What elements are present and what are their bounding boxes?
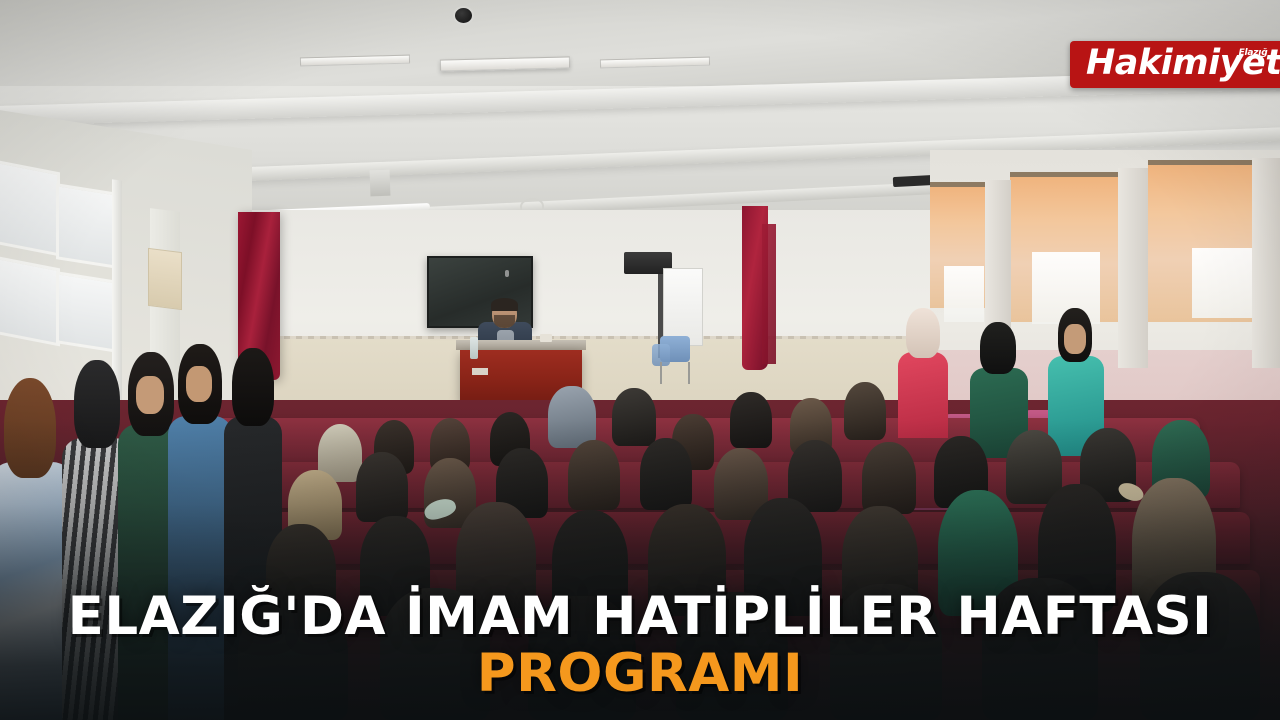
headline-line-2: PROGRAMI (0, 646, 1280, 702)
headline-line-1: ELAZIĞ'DA İMAM HATİPLİLER HAFTASI (0, 589, 1280, 645)
headline-block: ELAZIĞ'DA İMAM HATİPLİLER HAFTASI PROGRA… (0, 589, 1280, 702)
publication-logo[interactable]: Hakimiyet Elazığ (1070, 41, 1280, 88)
logo-city-superscript: Elazığ (1239, 48, 1268, 58)
screenshot-root: Hakimiyet Elazığ ELAZIĞ'DA İMAM HATİPLİL… (0, 0, 1280, 720)
